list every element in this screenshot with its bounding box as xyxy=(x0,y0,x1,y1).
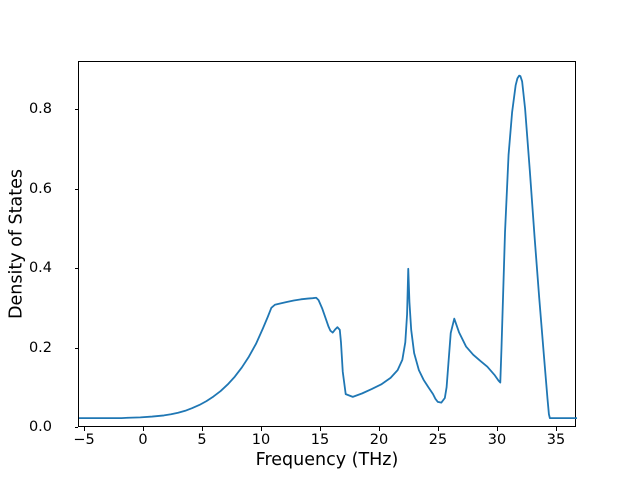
xtick-label: 30 xyxy=(488,433,506,448)
ytick-label: 0.4 xyxy=(29,261,52,276)
xtick-label: 10 xyxy=(252,433,270,448)
xtick-label: 25 xyxy=(429,433,447,448)
xtick-mark xyxy=(143,427,144,431)
xtick-mark xyxy=(438,427,439,431)
ytick-label: 0.6 xyxy=(29,181,52,196)
dos-line-chart xyxy=(79,62,577,428)
xtick-label: 20 xyxy=(370,433,388,448)
xtick-mark xyxy=(261,427,262,431)
ytick-mark xyxy=(75,109,79,110)
xtick-label: 5 xyxy=(197,433,206,448)
ytick-mark xyxy=(75,348,79,349)
xtick-label: 15 xyxy=(311,433,329,448)
xtick-mark xyxy=(497,427,498,431)
xtick-mark xyxy=(202,427,203,431)
ytick-label: 0.2 xyxy=(29,340,52,355)
xtick-label: 0 xyxy=(138,433,147,448)
y-axis-label: Density of States xyxy=(8,169,26,319)
xtick-mark xyxy=(320,427,321,431)
ytick-mark xyxy=(75,427,79,428)
figure-canvas: −5 0 5 10 15 20 25 30 35 0.0 0.2 0.4 0.6… xyxy=(0,0,640,480)
xtick-mark xyxy=(379,427,380,431)
dos-curve-line xyxy=(79,76,577,418)
ytick-mark xyxy=(75,268,79,269)
x-axis-label: Frequency (THz) xyxy=(256,452,399,470)
xtick-label: −5 xyxy=(73,433,94,448)
xtick-mark xyxy=(84,427,85,431)
ytick-label: 0.0 xyxy=(29,420,52,435)
ytick-mark xyxy=(75,189,79,190)
plot-axes xyxy=(78,61,576,427)
ytick-label: 0.8 xyxy=(29,102,52,117)
xtick-label: 35 xyxy=(547,433,565,448)
xtick-mark xyxy=(556,427,557,431)
